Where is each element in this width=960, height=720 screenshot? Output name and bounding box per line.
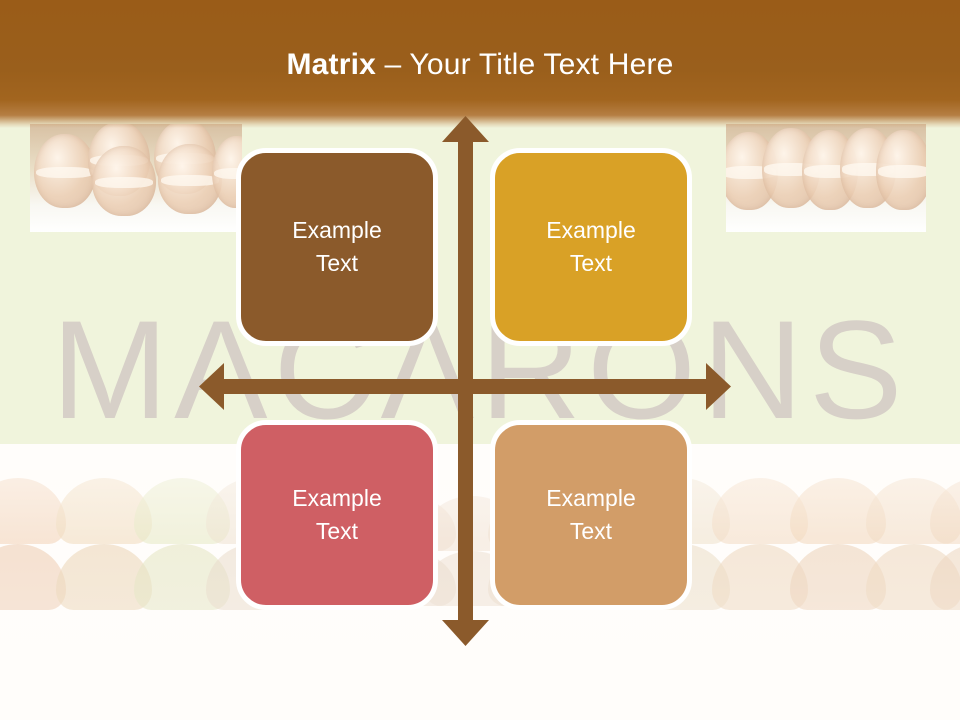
slide-canvas: MACARONS Matrix – Your Title Text Here E…	[0, 0, 960, 720]
arrow-up-icon	[442, 116, 489, 142]
quadrant-label-line1: Example	[546, 485, 635, 511]
axis-horizontal-shaft	[216, 379, 714, 394]
quadrant-label-line2: Text	[316, 250, 358, 276]
quadrant-box-top-right[interactable]: ExampleText	[490, 148, 692, 346]
quadrant-label-line2: Text	[570, 518, 612, 544]
quadrant-label-line1: Example	[292, 217, 381, 243]
quadrant-label-line2: Text	[570, 250, 612, 276]
quadrant-label-bottom-right: ExampleText	[546, 482, 635, 549]
arrow-left-icon	[199, 363, 224, 410]
quadrant-label-line1: Example	[292, 485, 381, 511]
arrow-down-icon	[442, 620, 489, 646]
quadrant-box-top-left[interactable]: ExampleText	[236, 148, 438, 346]
quadrant-label-line1: Example	[546, 217, 635, 243]
quadrant-label-top-right: ExampleText	[546, 214, 635, 281]
quadrant-label-line2: Text	[316, 518, 358, 544]
quadrant-label-top-left: ExampleText	[292, 214, 381, 281]
arrow-right-icon	[706, 363, 731, 410]
matrix-axes	[0, 0, 960, 720]
quadrant-label-bottom-left: ExampleText	[292, 482, 381, 549]
quadrant-box-bottom-right[interactable]: ExampleText	[490, 420, 692, 610]
quadrant-box-bottom-left[interactable]: ExampleText	[236, 420, 438, 610]
